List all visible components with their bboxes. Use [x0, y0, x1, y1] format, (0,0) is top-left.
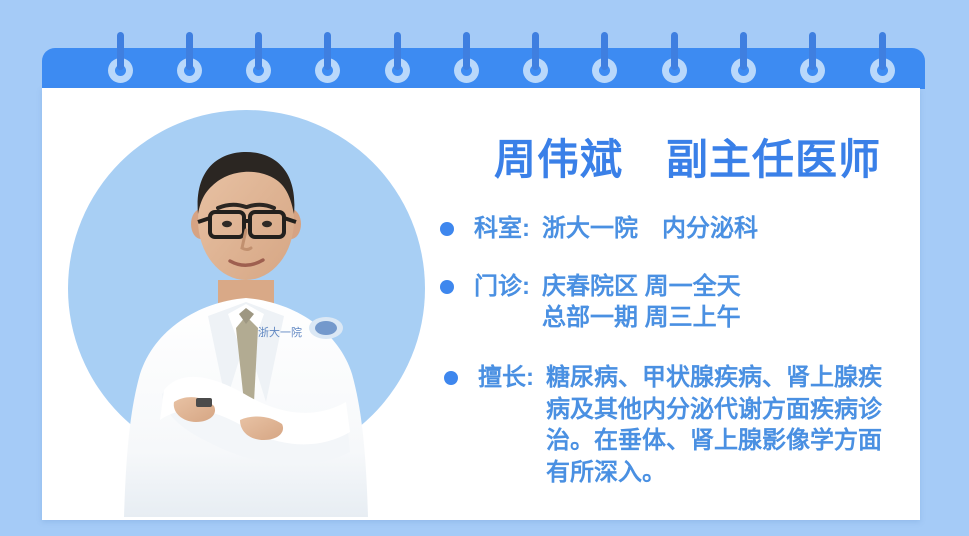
- binding-ring-stem: [117, 32, 124, 70]
- doctor-name-title: 周伟斌 副主任医师: [440, 126, 935, 187]
- expertise-value: 糖尿病、甲状腺疾病、肾上腺疾病及其他内分泌代谢方面疾病诊治。在垂体、肾上腺影像学…: [546, 362, 901, 489]
- binding-ring-stem: [532, 32, 539, 70]
- expertise-label: 擅长:: [478, 362, 534, 394]
- info-row-expertise: 擅长: 糖尿病、甲状腺疾病、肾上腺疾病及其他内分泌代谢方面疾病诊治。在垂体、肾上…: [440, 362, 940, 489]
- binding-ring-stem: [740, 32, 747, 70]
- department-label: 科室:: [474, 213, 530, 245]
- info-row-department: 科室: 浙大一院 内分泌科: [440, 213, 940, 245]
- department-value: 浙大一院 内分泌科: [542, 213, 758, 245]
- clinic-label: 门诊:: [474, 271, 530, 303]
- binding-ring-stem: [186, 32, 193, 70]
- doctor-head: [191, 152, 301, 280]
- doctor-body: 浙大一院: [124, 280, 368, 517]
- binding-ring-stem: [809, 32, 816, 70]
- doctor-profile-card: 浙大一院: [0, 0, 969, 536]
- binding-ring-stem: [671, 32, 678, 70]
- binding-ring-stem: [255, 32, 262, 70]
- binding-ring-stem: [463, 32, 470, 70]
- portrait-container: 浙大一院: [58, 102, 438, 517]
- bullet-icon: [440, 280, 454, 294]
- notebook-binding-bar: [42, 48, 925, 89]
- svg-text:浙大一院: 浙大一院: [258, 325, 302, 339]
- clinic-value: 庆春院区 周一全天 总部一期 周三上午: [542, 271, 741, 334]
- binding-ring-stem: [324, 32, 331, 70]
- doctor-portrait-image: 浙大一院: [58, 102, 438, 517]
- bullet-icon: [444, 371, 458, 385]
- binding-ring-stem: [394, 32, 401, 70]
- binding-ring-stem: [601, 32, 608, 70]
- doctor-info-column: 周伟斌 副主任医师 科室: 浙大一院 内分泌科 门诊: 庆春院区 周一全天 总部…: [440, 112, 940, 489]
- bullet-icon: [440, 222, 454, 236]
- binding-ring-stem: [879, 32, 886, 70]
- info-row-clinic: 门诊: 庆春院区 周一全天 总部一期 周三上午: [440, 271, 940, 334]
